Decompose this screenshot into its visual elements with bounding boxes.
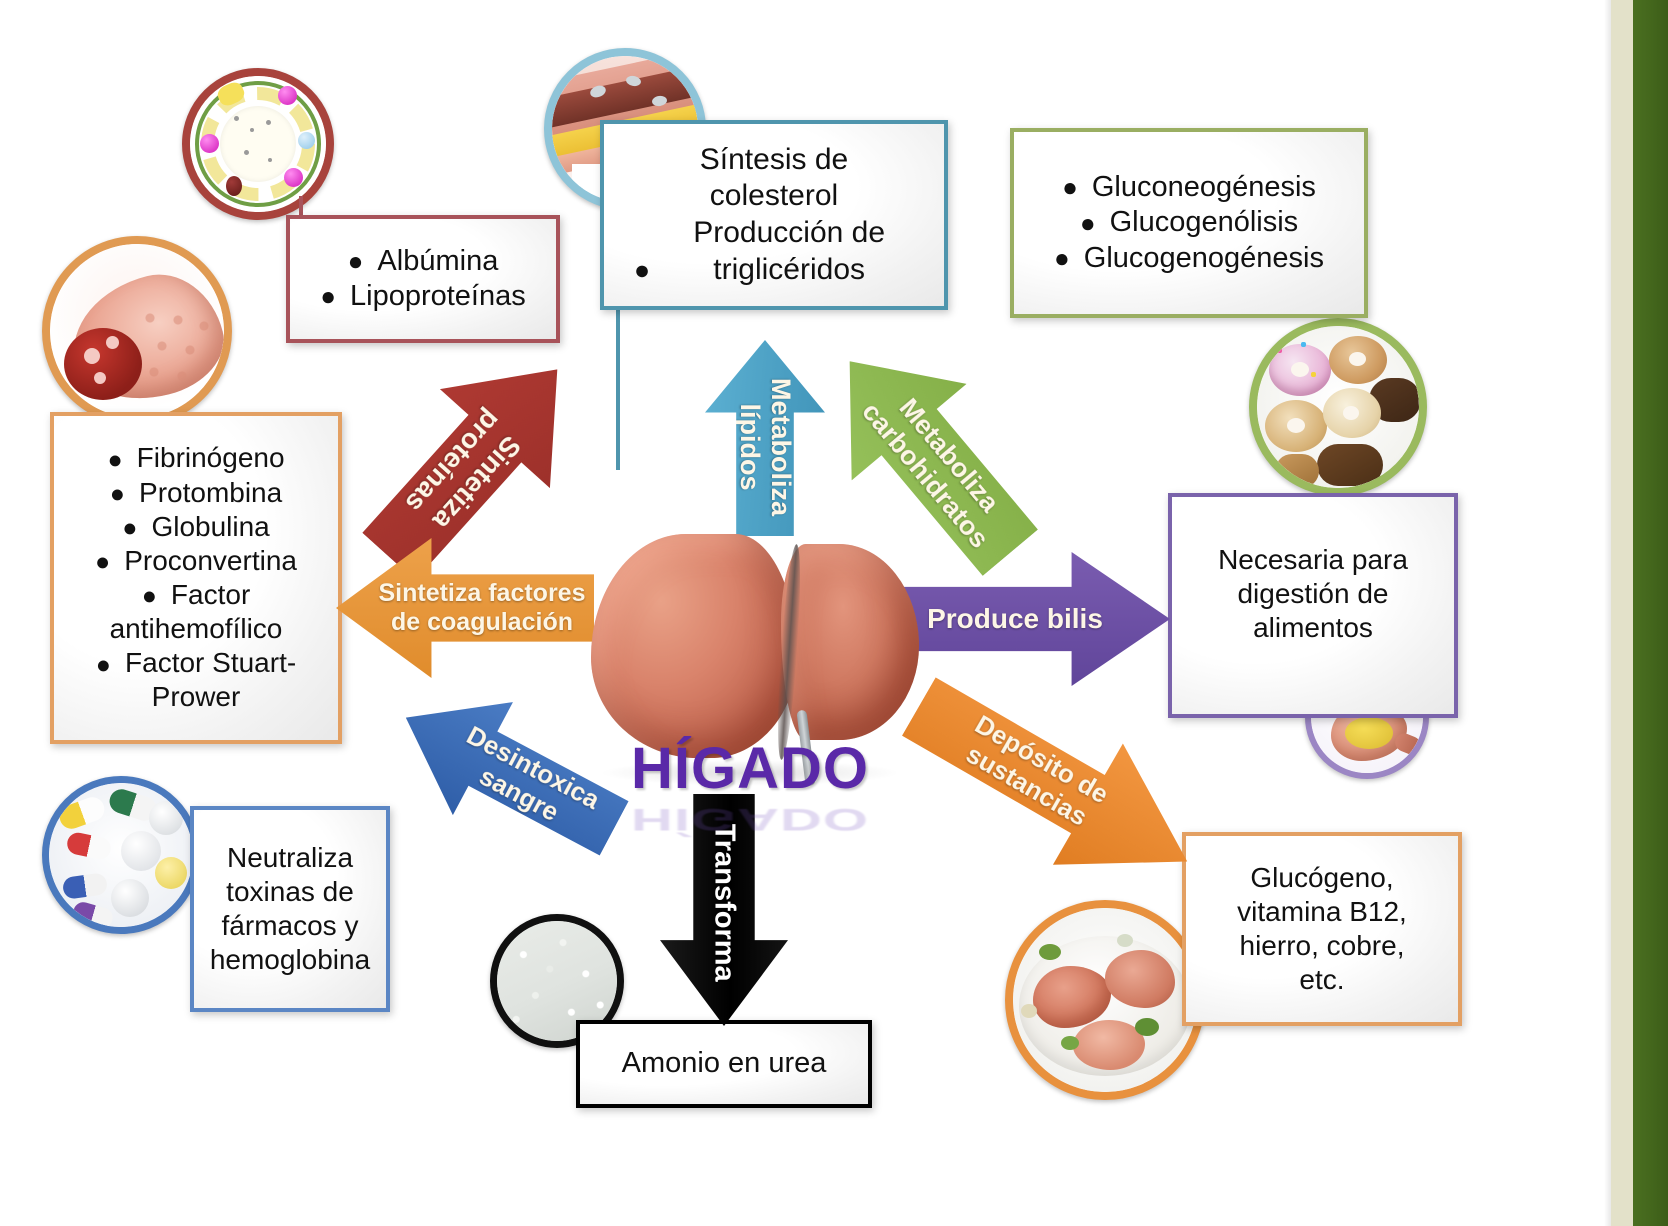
liver-left-lobe: [591, 534, 797, 758]
box-storage-line-0: Glucógeno,: [1250, 861, 1393, 895]
box-storage-line-2: hierro, cobre,: [1240, 929, 1405, 963]
box-detox: Neutraliza toxinas de fármacos y hemoglo…: [190, 806, 390, 1012]
box-proteins: ●Albúmina ●Lipoproteínas: [286, 215, 560, 343]
bullet-icon: ●: [95, 547, 110, 578]
box-proteins-item-1: Lipoproteínas: [350, 279, 526, 314]
meat-vegetables-plate-icon: [1013, 908, 1197, 1092]
arrow-deposito-sustancias-label: Depósito de sustancias: [955, 710, 1114, 836]
organ-label: HÍGADO: [600, 735, 900, 802]
arrow-sintetiza-proteinas-label: Sintetiza proteínas: [399, 404, 531, 541]
donuts-pastries-icon: [1257, 326, 1419, 488]
box-bile: Necesaria para digestión de alimentos: [1168, 493, 1458, 718]
arrow-transforma-label: Transforma: [707, 824, 740, 982]
box-coagulation-item-0: Fibrinógeno: [137, 441, 285, 475]
box-carbs: ●Gluconeogénesis ●Glucogenólisis ●Glucog…: [1010, 128, 1368, 318]
arrow-produce-bilis: Produce bilis: [904, 552, 1170, 686]
box-storage-line-1: vitamina B12,: [1237, 895, 1407, 929]
donuts-bubble: [1249, 318, 1427, 496]
box-coagulation-item-2: Globulina: [151, 510, 269, 544]
arrow-produce-bilis-label: Produce bilis: [927, 603, 1103, 635]
liver-illustration: [585, 520, 915, 770]
box-lipids-line-1: colesterol: [710, 178, 838, 215]
box-coagulation-item-1: Protombina: [139, 476, 282, 510]
box-urea-line-0: Amonio en urea: [622, 1046, 827, 1081]
right-beige-band: [1611, 0, 1633, 1226]
box-lipids-item-0: Producción de triglicéridos: [664, 215, 914, 288]
bullet-icon: ●: [107, 445, 122, 476]
box-urea: Amonio en urea: [576, 1020, 872, 1108]
box-carbs-item-1: Glucogenólisis: [1110, 205, 1299, 240]
box-carbs-item-2: Glucogenogénesis: [1084, 241, 1324, 276]
box-coagulation-item-3: Proconvertina: [124, 544, 297, 578]
pills-bubble: [42, 776, 200, 934]
arrow-metaboliza-lipidos-label: Metaboliza lípidos: [734, 378, 796, 516]
bullet-icon: ●: [1054, 243, 1070, 275]
bullet-icon: ●: [1062, 172, 1078, 204]
arrow-sintetiza-proteinas: Sintetiza proteínas: [334, 320, 613, 606]
box-detox-line-0: Neutraliza: [227, 841, 353, 875]
bullet-icon: ●: [96, 650, 111, 681]
box-coagulation-item-5: Factor Stuart-Prower: [125, 647, 296, 712]
box-bile-line-1: digestión de: [1237, 577, 1388, 611]
box-proteins-item-0: Albúmina: [377, 244, 498, 279]
bullet-icon: ●: [110, 479, 125, 510]
lipoprotein-particle-icon: [190, 76, 326, 212]
arrow-sintetiza-factores: Sintetiza factores de coagulación: [336, 538, 594, 678]
bullet-icon: ●: [348, 246, 364, 278]
box-detox-line-3: hemoglobina: [210, 943, 370, 977]
bullet-icon: ●: [1080, 208, 1096, 240]
bullet-icon: ●: [634, 254, 650, 287]
arrow-desintoxica-sangre-label: Desintoxica sangre: [447, 721, 604, 842]
lipoprotein-bubble: [182, 68, 334, 220]
arrow-metaboliza-lipidos: Metaboliza lípidos: [705, 340, 825, 536]
infographic-canvas: ●Albúmina ●Lipoproteínas Síntesis de col…: [0, 0, 1668, 1226]
box-carbs-item-0: Gluconeogénesis: [1092, 170, 1316, 205]
box-detox-line-2: fármacos y: [222, 909, 359, 943]
box-detox-line-1: toxinas de: [226, 875, 354, 909]
box-bile-line-0: Necesaria para: [1218, 543, 1408, 577]
arrow-sintetiza-factores-label: Sintetiza factores de coagulación: [378, 579, 585, 637]
liver-tissue-bubble: [42, 236, 232, 426]
box-bile-line-2: alimentos: [1253, 611, 1373, 645]
box-storage: Glucógeno, vitamina B12, hierro, cobre, …: [1182, 832, 1462, 1026]
box-coagulation: ●Fibrinógeno ●Protombina ●Globulina ●Pro…: [50, 412, 342, 744]
pills-capsules-icon: [49, 783, 193, 927]
liver-tissue-icon: [50, 244, 224, 418]
bullet-icon: ●: [320, 281, 336, 313]
box-coagulation-item-4: Factor antihemofílico: [110, 579, 283, 644]
box-storage-line-3: etc.: [1299, 963, 1344, 997]
bullet-icon: ●: [122, 513, 137, 544]
meat-food-bubble: [1005, 900, 1205, 1100]
box-lipids-line-0: Síntesis de: [700, 142, 848, 179]
organ-label-reflection: HÍGADO: [600, 801, 900, 838]
box-lipids: Síntesis de colesterol ●Producción de tr…: [600, 120, 948, 310]
right-green-band: [1633, 0, 1668, 1226]
bullet-icon: ●: [142, 581, 157, 612]
